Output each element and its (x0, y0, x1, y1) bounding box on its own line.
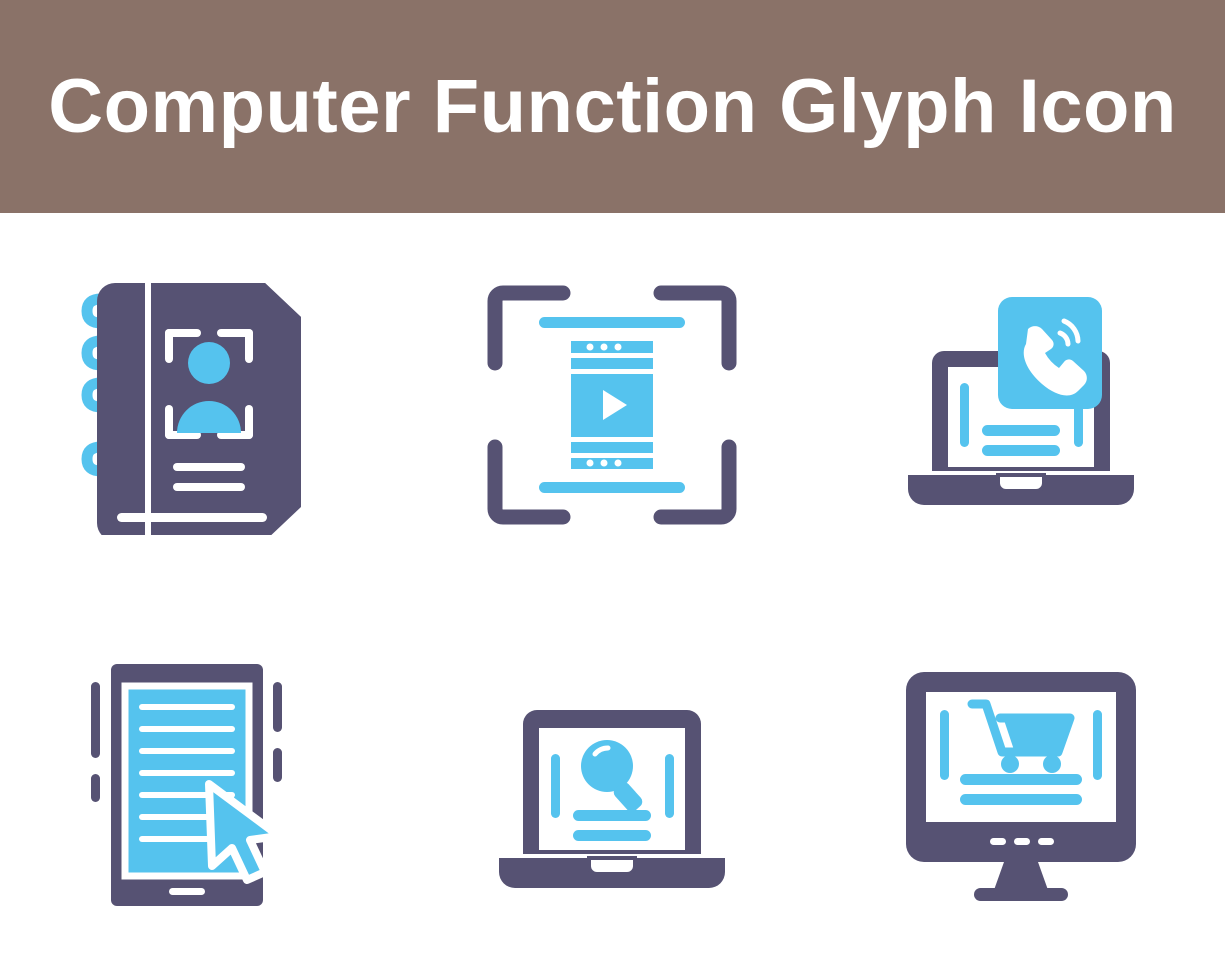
icon-sheet: Computer Function Glyph Icon (0, 0, 1225, 980)
contact-book-icon (69, 275, 339, 535)
icon-cell-video-frame (408, 213, 816, 597)
laptop-call-icon (886, 275, 1156, 535)
icon-grid (0, 213, 1225, 980)
icon-cell-tablet-cursor (0, 597, 408, 980)
icon-cell-monitor-cart (817, 597, 1225, 980)
icon-cell-laptop-call (817, 213, 1225, 597)
tablet-cursor-icon (69, 658, 339, 918)
icon-cell-laptop-search (408, 597, 816, 980)
banner: Computer Function Glyph Icon (0, 0, 1225, 213)
laptop-search-icon (477, 658, 747, 918)
video-frame-icon (477, 275, 747, 535)
page-title: Computer Function Glyph Icon (48, 69, 1177, 145)
monitor-cart-icon (886, 658, 1156, 918)
icon-cell-contact-book (0, 213, 408, 597)
